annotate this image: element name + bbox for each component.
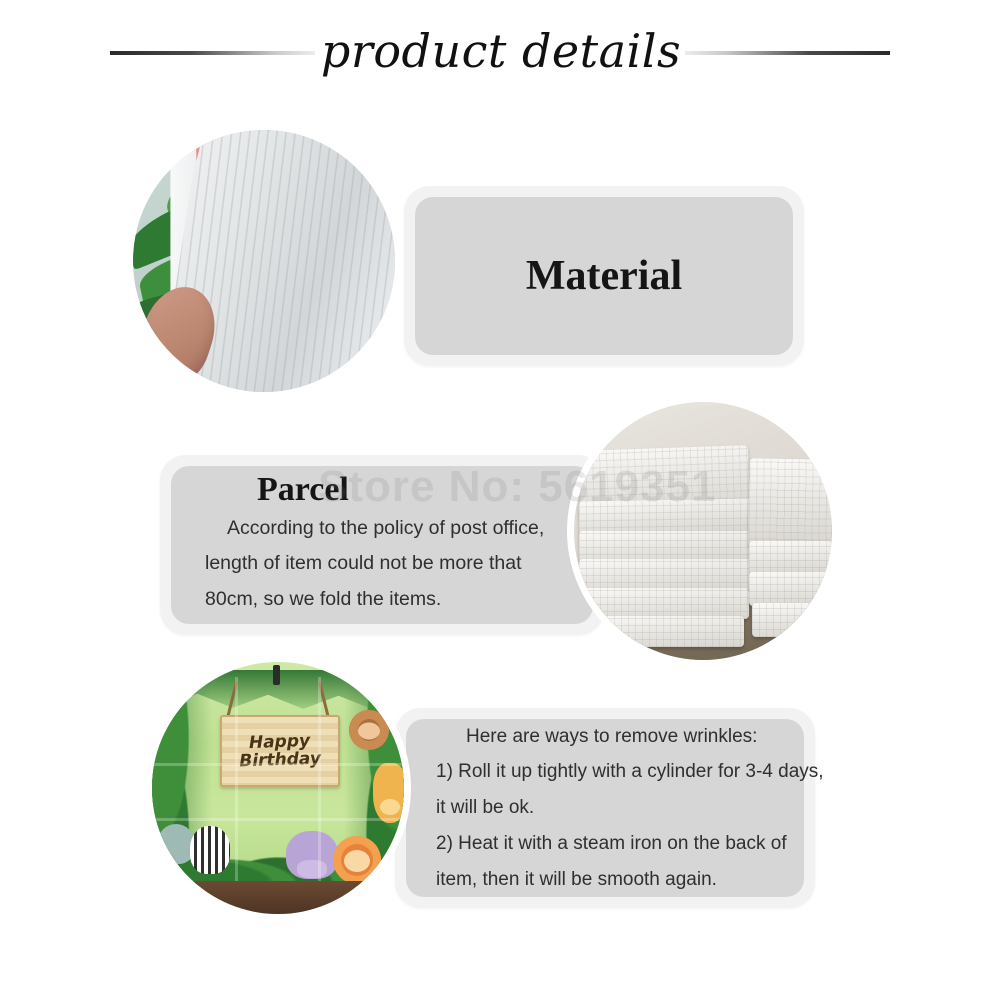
parcel-text-line-3: 80cm, so we fold the items.: [205, 582, 593, 617]
parcel-text-line-2: length of item could not be more that: [205, 546, 593, 581]
parcel-text-line-1: According to the policy of post office,: [205, 511, 593, 546]
backdrop-fold-crease: [152, 818, 404, 821]
care-text-line-4: 2) Heat it with a steam iron on the back…: [436, 826, 804, 862]
parcel-panel-content: Parcel According to the policy of post o…: [171, 466, 593, 624]
backdrop-lion-icon: [333, 836, 381, 884]
parcel-bag: [579, 559, 752, 590]
material-fabric-photo-inner: [133, 130, 395, 392]
backdrop-giraffe-icon: [373, 763, 404, 823]
parcel-bag: [749, 541, 832, 575]
title-rule-right: [685, 51, 890, 55]
parcel-bag: [752, 603, 832, 637]
parcel-heading: Parcel: [205, 473, 593, 507]
care-instructions-panel: Here are ways to remove wrinkles: 1) Rol…: [395, 708, 815, 908]
care-text-line-5: item, then it will be smooth again.: [436, 862, 804, 898]
jungle-backdrop-photo: Happy Birthday: [152, 662, 404, 914]
care-text-line-1: Here are ways to remove wrinkles:: [436, 719, 804, 755]
parcel-stack-photo: [574, 402, 832, 660]
parcel-bag: [579, 588, 749, 619]
care-text-line-2: 1) Roll it up tightly with a cylinder fo…: [436, 754, 804, 790]
material-panel-content: Material: [415, 197, 793, 355]
care-text-line-3: it will be ok.: [436, 790, 804, 826]
parcel-stack-photo-inner: [574, 402, 832, 660]
parcel-bag: [579, 499, 755, 536]
parcel-bag: [749, 458, 832, 547]
material-panel: Material: [404, 186, 804, 366]
material-fabric-photo: [133, 130, 395, 392]
parcel-bag: [579, 616, 744, 647]
parcel-bag: [749, 572, 832, 606]
backdrop-fold-crease: [152, 763, 404, 766]
material-heading: Material: [415, 255, 793, 297]
page-title: product details: [321, 28, 681, 74]
backdrop-hippo-icon: [286, 831, 338, 879]
backdrop-fold-crease: [318, 677, 321, 884]
jungle-backdrop-photo-inner: Happy Birthday: [152, 662, 404, 914]
backdrop-sign-line-2: Birthday: [239, 749, 321, 770]
backdrop-monkey-icon: [349, 710, 389, 750]
backdrop-floor: [152, 881, 404, 914]
page-title-row: product details: [0, 18, 1000, 88]
backdrop-fold-crease: [235, 677, 238, 884]
parcel-panel: Parcel According to the policy of post o…: [160, 455, 604, 635]
title-rule-left: [110, 51, 315, 55]
parcel-bag: [579, 531, 754, 562]
backdrop-clip: [273, 665, 280, 685]
backdrop-zebra-icon: [190, 826, 230, 874]
care-panel-content: Here are ways to remove wrinkles: 1) Rol…: [406, 719, 804, 897]
